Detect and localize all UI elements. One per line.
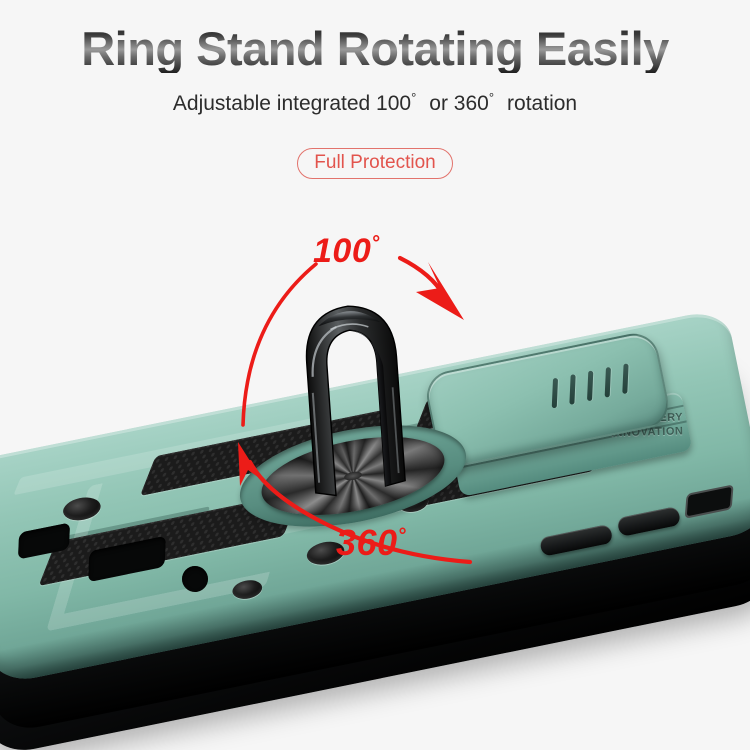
subtitle-degree-2: ° bbox=[489, 90, 494, 105]
badge-container: Full Protection bbox=[0, 148, 750, 179]
status-badge: Full Protection bbox=[297, 148, 452, 179]
page-title: Ring Stand Rotating Easily bbox=[0, 24, 750, 73]
tilt-angle-value: 100 bbox=[313, 232, 371, 270]
subtitle-prefix: Adjustable integrated 100 bbox=[173, 92, 411, 115]
tilt-arrowhead bbox=[416, 262, 464, 320]
kickstand-ring[interactable] bbox=[286, 290, 422, 498]
subtitle-degree-1: ° bbox=[411, 90, 416, 105]
product-banner: Ring Stand Rotating Easily Adjustable in… bbox=[0, 0, 750, 750]
subtitle: Adjustable integrated 100°or 360°rotatio… bbox=[0, 90, 750, 116]
volume-down-button[interactable] bbox=[539, 524, 613, 557]
subtitle-suffix: rotation bbox=[507, 92, 577, 115]
subtitle-middle: or 360 bbox=[429, 92, 489, 115]
product-image: DISCOVERY INNOVATION bbox=[0, 330, 750, 750]
tilt-degree-symbol: ° bbox=[371, 233, 380, 255]
tilt-angle-label: 100° bbox=[313, 232, 380, 271]
case-screw-detail bbox=[305, 539, 347, 568]
